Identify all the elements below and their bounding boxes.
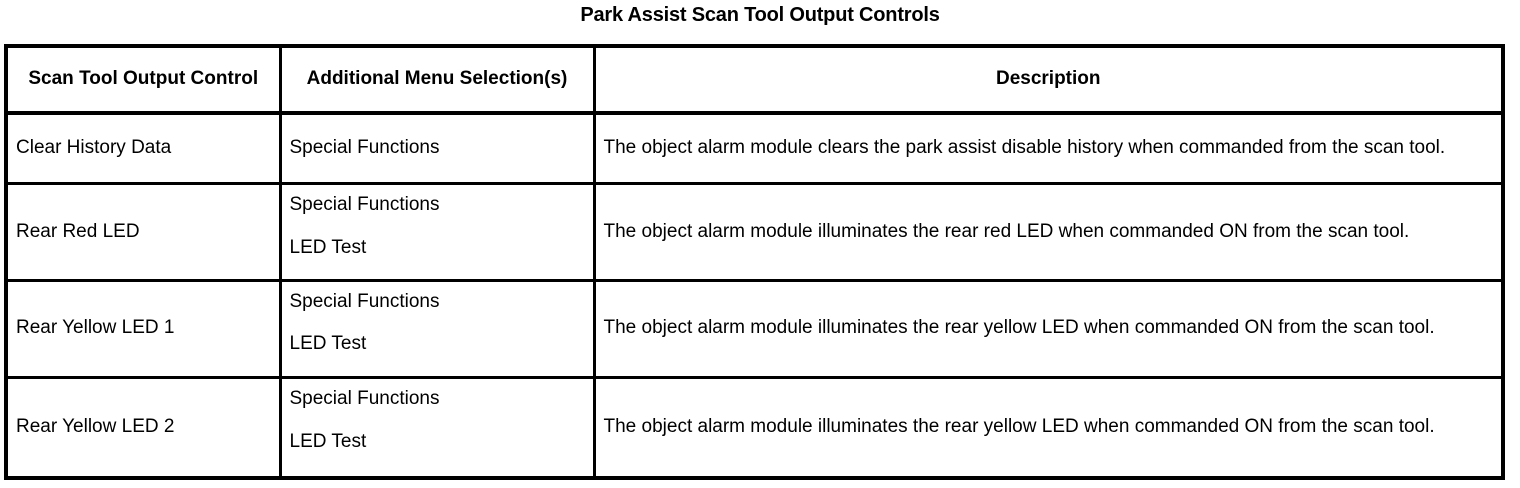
cell-description: The object alarm module illuminates the … [594, 280, 1501, 377]
table-row: Rear Red LED Special Functions LED Test … [8, 184, 1501, 280]
cell-menu-selections: Special Functions LED Test [280, 378, 594, 476]
description-text: The object alarm module illuminates the … [604, 415, 1494, 440]
description-text: The object alarm module clears the park … [604, 136, 1494, 161]
cell-control: Clear History Data [8, 113, 280, 184]
column-header-description: Description [594, 48, 1501, 113]
cell-description: The object alarm module illuminates the … [594, 378, 1501, 476]
menu-selection-item: LED Test [290, 236, 585, 261]
cell-control: Rear Red LED [8, 184, 280, 280]
table-header-row: Scan Tool Output Control Additional Menu… [8, 48, 1501, 113]
menu-selection-item: Special Functions [290, 136, 585, 161]
menu-selection-item: Special Functions [290, 193, 585, 218]
table-grid: Scan Tool Output Control Additional Menu… [8, 48, 1501, 476]
menu-selection-item: LED Test [290, 332, 585, 357]
cell-control: Rear Yellow LED 1 [8, 280, 280, 377]
column-header-scan-tool-output-control: Scan Tool Output Control [8, 48, 280, 113]
description-text: The object alarm module illuminates the … [604, 220, 1494, 245]
description-text: The object alarm module illuminates the … [604, 316, 1494, 341]
cell-description: The object alarm module clears the park … [594, 113, 1501, 184]
scan-tool-output-controls-table: Scan Tool Output Control Additional Menu… [4, 44, 1505, 480]
cell-description: The object alarm module illuminates the … [594, 184, 1501, 280]
cell-menu-selections: Special Functions LED Test [280, 184, 594, 280]
column-header-additional-menu-selections: Additional Menu Selection(s) [280, 48, 594, 113]
page-title: Park Assist Scan Tool Output Controls [0, 4, 1520, 27]
cell-control: Rear Yellow LED 2 [8, 378, 280, 476]
cell-menu-selections: Special Functions [280, 113, 594, 184]
table-row: Rear Yellow LED 2 Special Functions LED … [8, 378, 1501, 476]
document-page: Park Assist Scan Tool Output Controls Sc… [0, 0, 1520, 488]
cell-menu-selections: Special Functions LED Test [280, 280, 594, 377]
table-body: Clear History Data Special Functions The… [8, 113, 1501, 476]
table-header: Scan Tool Output Control Additional Menu… [8, 48, 1501, 113]
menu-selection-item: LED Test [290, 430, 585, 455]
menu-selection-item: Special Functions [290, 387, 585, 412]
menu-selection-item: Special Functions [290, 290, 585, 315]
table-row: Clear History Data Special Functions The… [8, 113, 1501, 184]
table-row: Rear Yellow LED 1 Special Functions LED … [8, 280, 1501, 377]
